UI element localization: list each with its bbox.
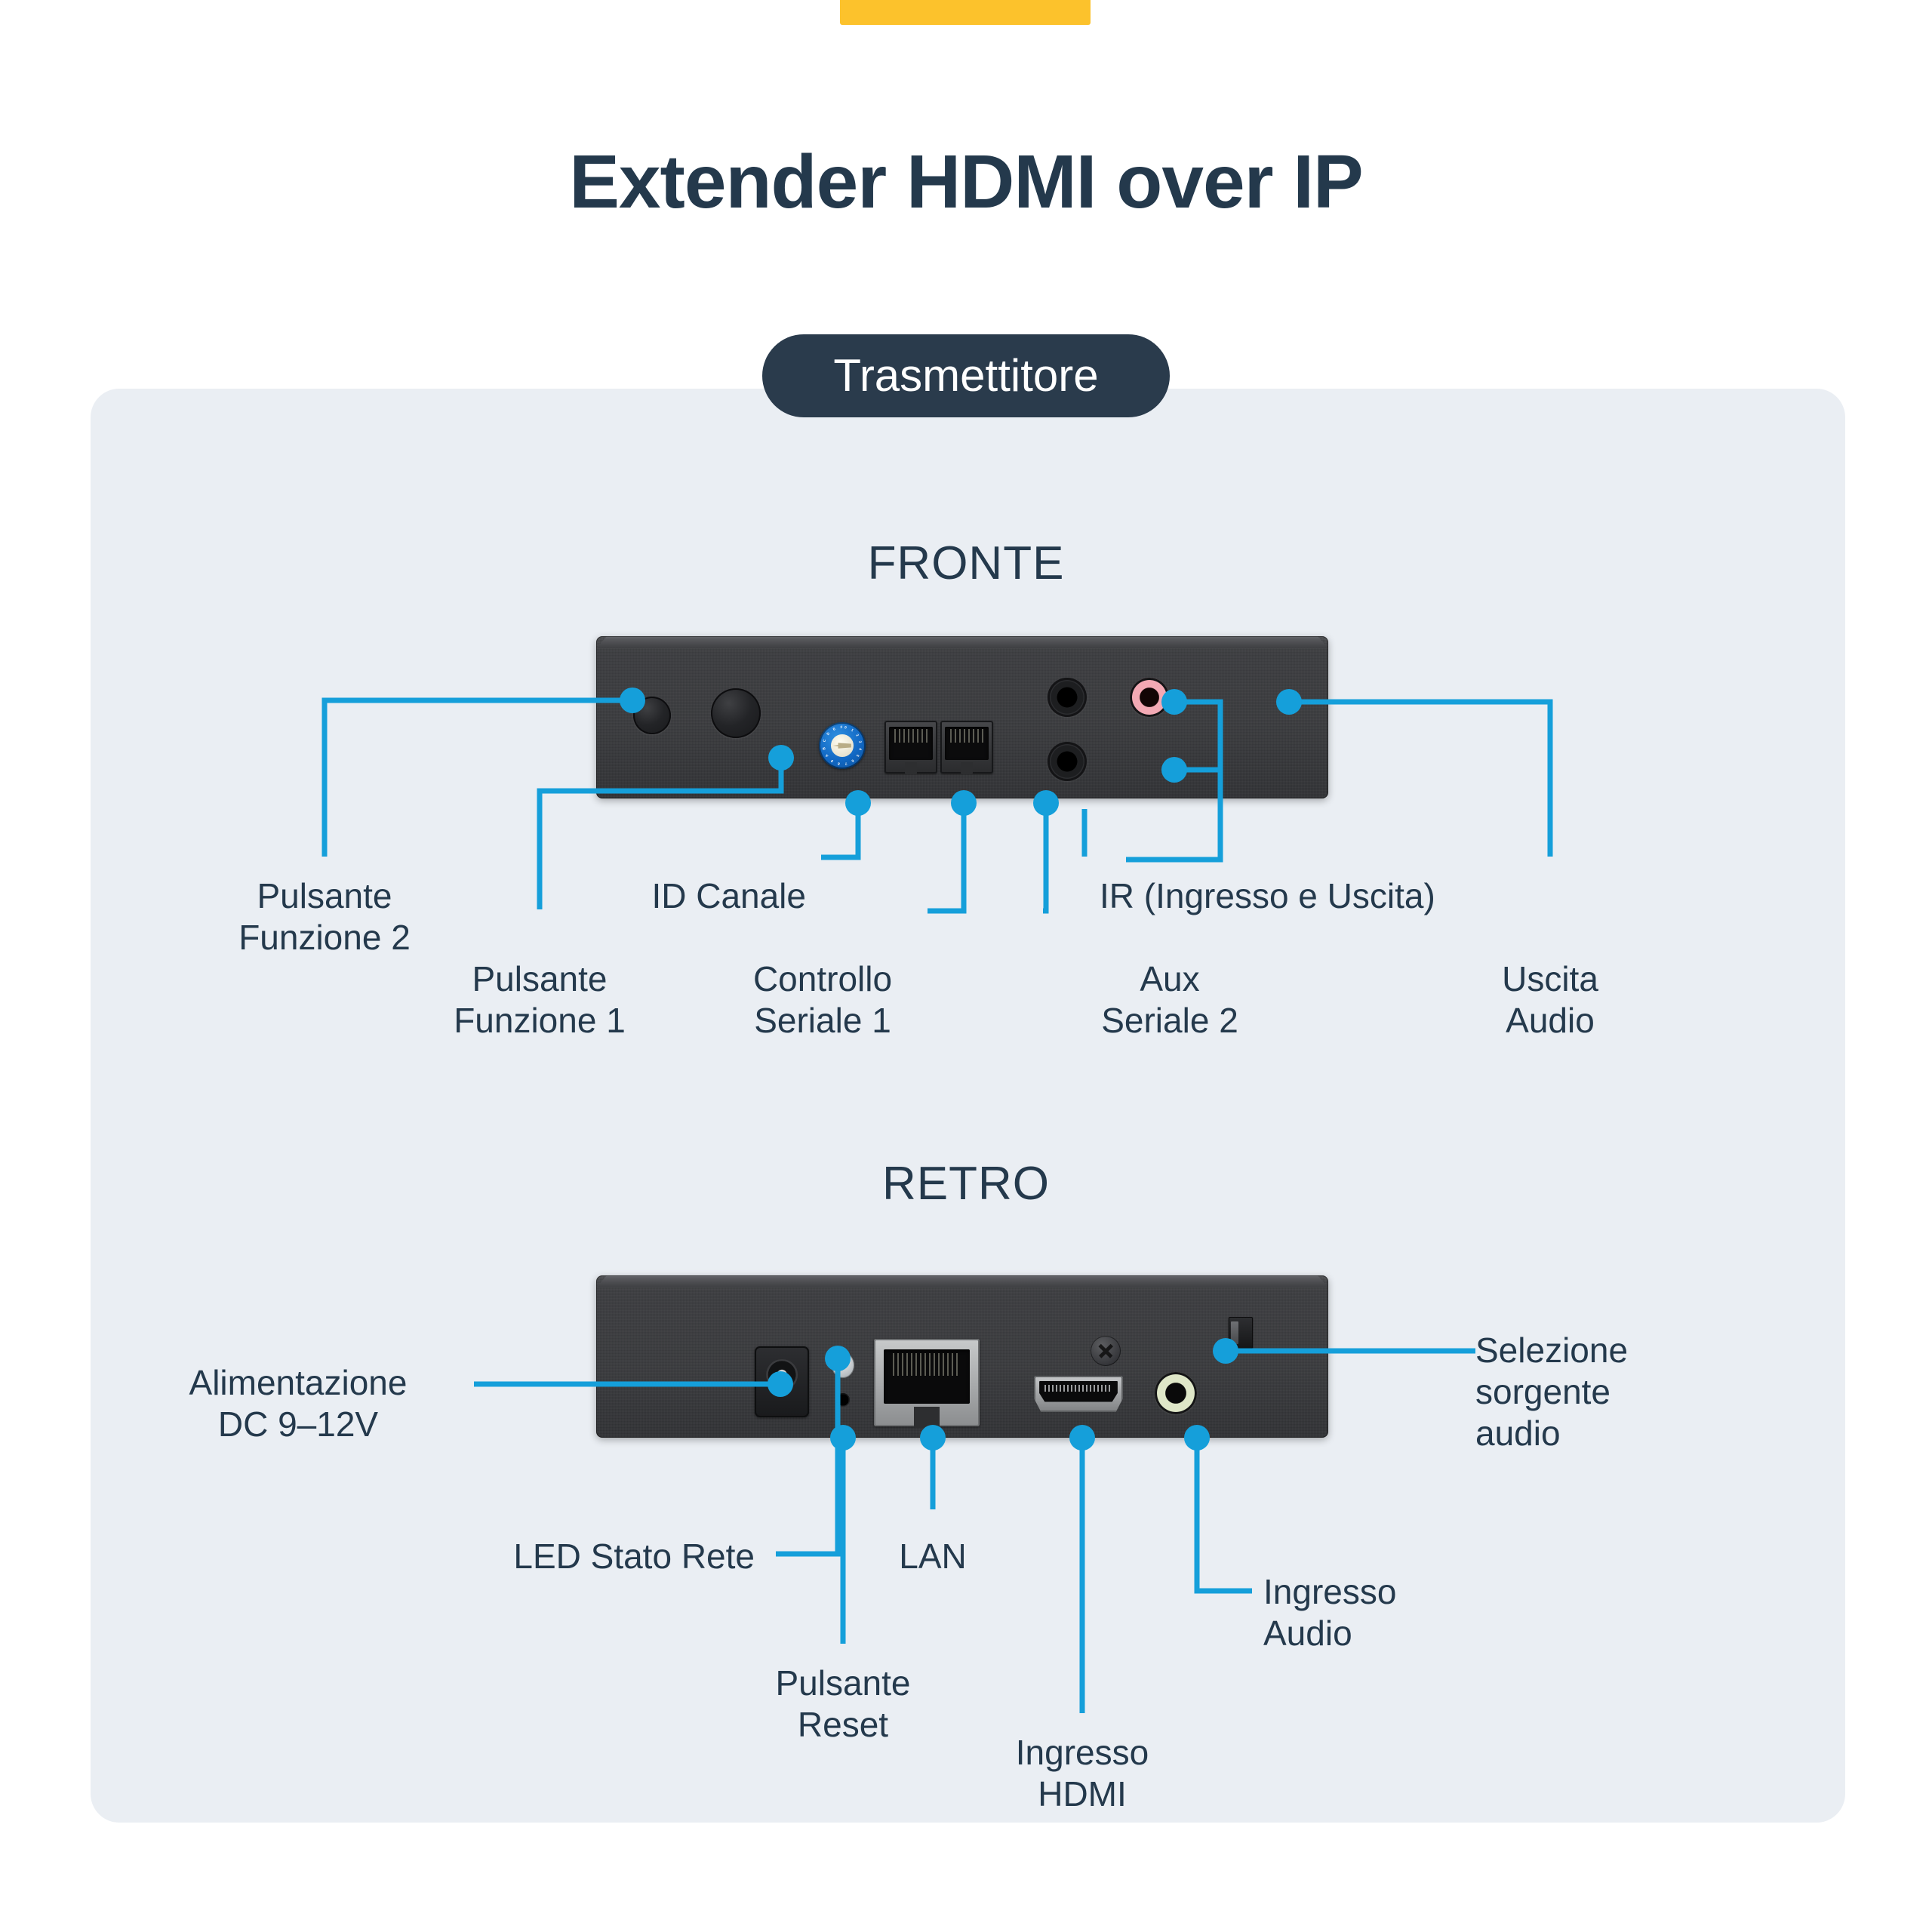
callout-label-id-canale: ID Canale (444, 875, 806, 917)
channel-id-rotary-switch[interactable]: 0123456789ABCDEF (819, 722, 866, 769)
callout-label-ingresso-audio: Ingresso Audio (1263, 1571, 1512, 1654)
rj45-pins (950, 729, 984, 743)
screw-cross-slot (1094, 1339, 1118, 1363)
device-type-badge-label: Trasmettitore (833, 353, 1098, 398)
reset-button-pinhole[interactable] (836, 1393, 850, 1407)
rj45-pins (893, 1353, 961, 1376)
chassis-screw (1091, 1336, 1121, 1366)
callout-label-aux-seriale-2: Aux Seriale 2 (1079, 958, 1260, 1041)
page-title: Extender HDMI over IP (0, 144, 1932, 220)
ir-out-jack[interactable] (1048, 742, 1087, 781)
section-heading-rear: RETRO (0, 1161, 1932, 1207)
callout-label-pulsante-reset: Pulsante Reset (752, 1663, 934, 1746)
dip-switch-lever (1231, 1321, 1239, 1344)
hdmi-input-port[interactable] (1034, 1376, 1123, 1412)
callout-label-pulsante-funzione-2: Pulsante Funzione 2 (174, 875, 475, 958)
rj45-pins (894, 729, 928, 743)
dc-power-jack[interactable] (755, 1346, 809, 1417)
callout-label-selezione-sorgente-audio: Selezione sorgente audio (1475, 1330, 1792, 1455)
callout-label-ir-ingresso-uscita: IR (Ingresso e Uscita) (1100, 875, 1628, 917)
network-status-led (832, 1352, 854, 1378)
callout-label-controllo-seriale-1: Controllo Seriale 1 (732, 958, 913, 1041)
audio-input-jack[interactable] (1155, 1372, 1197, 1414)
callout-label-pulsante-funzione-1: Pulsante Funzione 1 (389, 958, 691, 1041)
rear-panel-device (596, 1275, 1328, 1438)
function-button-2[interactable] (633, 697, 671, 734)
rj45-latch (914, 1407, 940, 1428)
content-panel (91, 389, 1845, 1823)
lan-port[interactable] (874, 1339, 980, 1426)
dc-jack-hole (766, 1359, 798, 1391)
function-button-1[interactable] (711, 688, 761, 738)
serial-aux-2-port[interactable] (940, 721, 993, 774)
section-heading-front: FRONTE (0, 540, 1932, 587)
callout-label-ingresso-hdmi: Ingresso HDMI (992, 1732, 1173, 1815)
rj45-latch (961, 762, 974, 775)
callout-label-lan: LAN (872, 1536, 993, 1577)
audio-output-jack[interactable] (1130, 678, 1169, 717)
top-accent-bar (840, 0, 1091, 25)
device-type-badge: Trasmettitore (762, 334, 1170, 417)
callout-label-alimentazione: Alimentazione DC 9–12V (140, 1362, 457, 1445)
callout-label-uscita-audio: Uscita Audio (1452, 958, 1648, 1041)
front-panel-device: 0123456789ABCDEF (596, 636, 1328, 798)
hdmi-contacts (1044, 1385, 1112, 1392)
diagram-root: Extender HDMI over IP Trasmettitore FRON… (0, 0, 1932, 1932)
rj45-latch (905, 762, 918, 775)
callout-label-led-stato-rete: LED Stato Rete (377, 1536, 755, 1577)
audio-source-select-switch[interactable] (1229, 1317, 1253, 1349)
ir-in-jack[interactable] (1048, 678, 1087, 717)
serial-control-1-port[interactable] (884, 721, 937, 774)
